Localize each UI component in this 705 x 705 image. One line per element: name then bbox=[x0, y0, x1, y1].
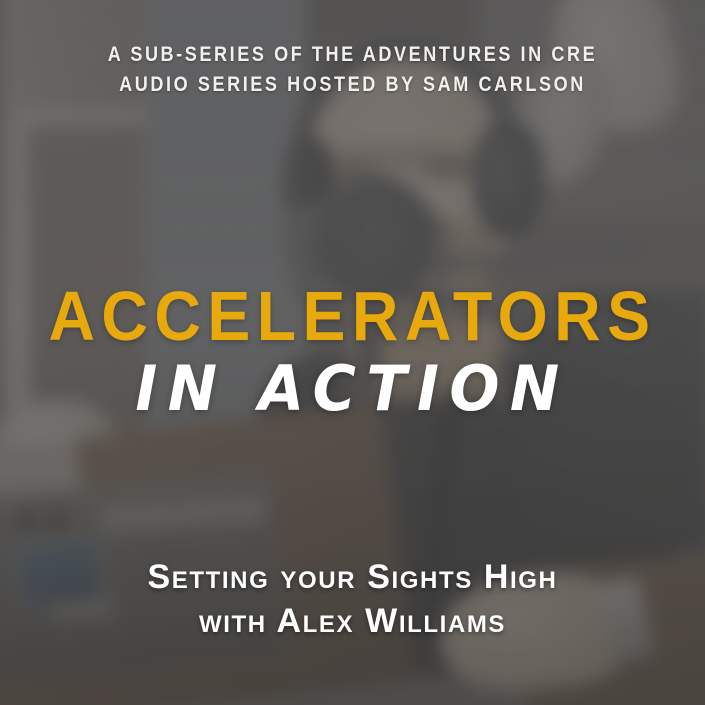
series-description: A Sub-Series of The Adventures in CRE Au… bbox=[49, 40, 655, 100]
episode-title: Setting your Sights High with Alex Willi… bbox=[0, 556, 705, 643]
episode-title-line-1: Setting your Sights High bbox=[0, 556, 705, 600]
cover-text-content: A Sub-Series of The Adventures in CRE Au… bbox=[0, 0, 705, 705]
podcast-cover-art: A Sub-Series of The Adventures in CRE Au… bbox=[0, 0, 705, 705]
series-description-line-1: A Sub-Series of The Adventures in CRE bbox=[49, 40, 655, 70]
episode-guest-line: with Alex Williams bbox=[0, 600, 705, 644]
series-description-line-2: Audio Series hosted by Sam Carlson bbox=[49, 70, 655, 100]
show-title-primary: Accelerators bbox=[28, 281, 677, 351]
show-title-secondary: In Action bbox=[18, 358, 688, 420]
